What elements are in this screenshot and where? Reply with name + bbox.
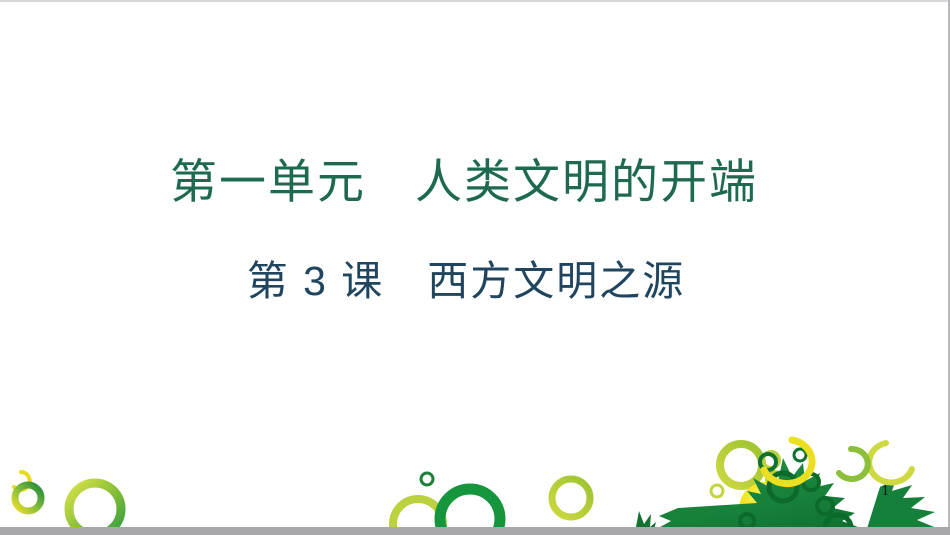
bubble-cluster-leaf-top xyxy=(711,444,781,497)
bubble-cluster-left xyxy=(14,472,121,535)
page-number: 1 xyxy=(882,483,890,500)
title-block: 第一单元 人类文明的开端 第 3 课 西方文明之源 xyxy=(0,150,950,310)
slide-edge-bottom xyxy=(0,527,950,535)
unit-title: 第一单元 人类文明的开端 xyxy=(0,150,950,214)
lesson-title: 第 3 课 西方文明之源 xyxy=(0,252,950,310)
ring-leaf-tiny-icon xyxy=(711,485,723,497)
ring-leaf-small-b-icon xyxy=(767,472,781,486)
ring-leaf-small-a-icon xyxy=(763,452,779,468)
ring-mid-tiny-icon xyxy=(421,473,433,485)
bubble-cluster-middle xyxy=(393,473,590,535)
ring-left-small-icon xyxy=(15,485,41,511)
leaf-top-arc-2-icon xyxy=(869,443,912,482)
ring-right-yellowgreen-icon xyxy=(552,479,590,517)
slide-canvas: 第一单元 人类文明的开端 第 3 课 西方文明之源 1 xyxy=(0,0,950,535)
leaf-top-arc-icon xyxy=(764,440,812,484)
arc-crescent-icon xyxy=(14,472,30,490)
slide-edge-top xyxy=(0,0,950,2)
leaf-top-arc-3-icon xyxy=(839,449,868,479)
maple-leaf-icon xyxy=(646,449,939,535)
ring-leaf-left-big-icon xyxy=(720,444,762,486)
